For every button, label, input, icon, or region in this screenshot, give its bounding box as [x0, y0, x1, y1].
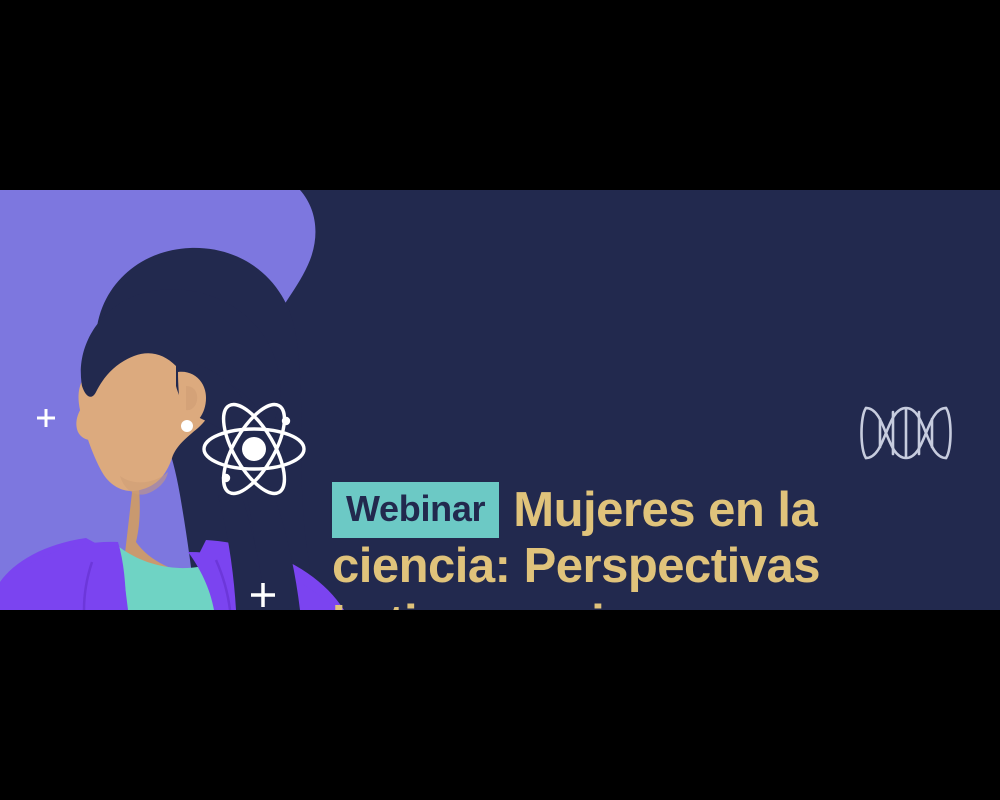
webinar-banner: OH CH₃ [0, 190, 1000, 610]
headline-line-1-text: Mujeres en la [513, 486, 817, 535]
headline-line-2: ciencia: Perspectivas [332, 538, 952, 595]
headline-line-3: Latinoamericanas [332, 595, 952, 610]
dna-helix-icon [860, 402, 960, 464]
sparkle-plus-icon [249, 581, 277, 609]
headline-line-1: Webinar Mujeres en la [332, 482, 952, 538]
screenshot-canvas: OH CH₃ [0, 0, 1000, 800]
sparkle-plus-icon [35, 407, 57, 429]
atom-icon [196, 394, 312, 504]
webinar-badge: Webinar [332, 482, 499, 538]
headline-block: Webinar Mujeres en la ciencia: Perspecti… [332, 482, 952, 610]
